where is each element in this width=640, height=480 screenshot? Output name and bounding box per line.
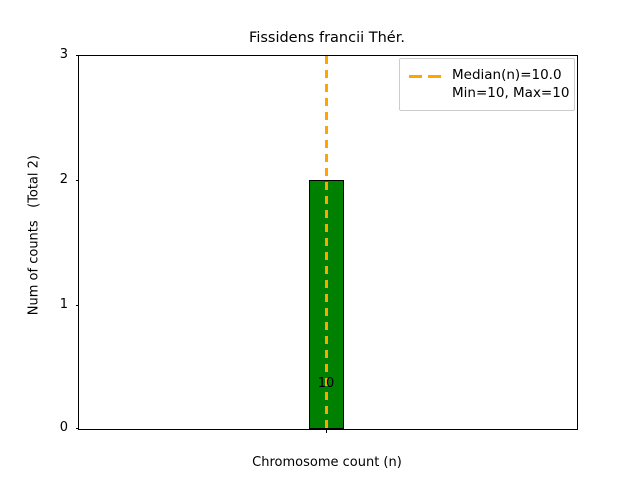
plot-area xyxy=(78,55,578,430)
x-tick-label-10: 10 xyxy=(318,377,335,391)
median-line xyxy=(325,56,328,429)
y-tick-label-1: 1 xyxy=(60,298,68,312)
chart-legend: Median(n)=10.0 Min=10, Max=10 xyxy=(399,58,575,111)
y-tick-label-2: 2 xyxy=(60,173,68,187)
legend-minmax-label: Min=10, Max=10 xyxy=(452,84,569,102)
plot-inner xyxy=(79,56,577,429)
y-tick-label-3: 3 xyxy=(60,48,68,62)
x-tick-mark-10 xyxy=(326,429,327,433)
legend-median-label: Median(n)=10.0 xyxy=(452,67,562,83)
dashed-line-icon xyxy=(408,69,444,83)
legend-item-median-text: Median(n)=10.0 Min=10, Max=10 xyxy=(452,66,569,102)
chart-figure: Fissidens francii Thér. Num of counts (T… xyxy=(0,0,640,480)
x-axis-label: Chromosome count (n) xyxy=(78,455,576,470)
y-tick-label-0: 0 xyxy=(60,421,68,435)
legend-item-median: Median(n)=10.0 Min=10, Max=10 xyxy=(408,66,566,102)
chart-title: Fissidens francii Thér. xyxy=(78,30,576,47)
y-tick-labels: 3 2 1 0 xyxy=(0,0,78,480)
